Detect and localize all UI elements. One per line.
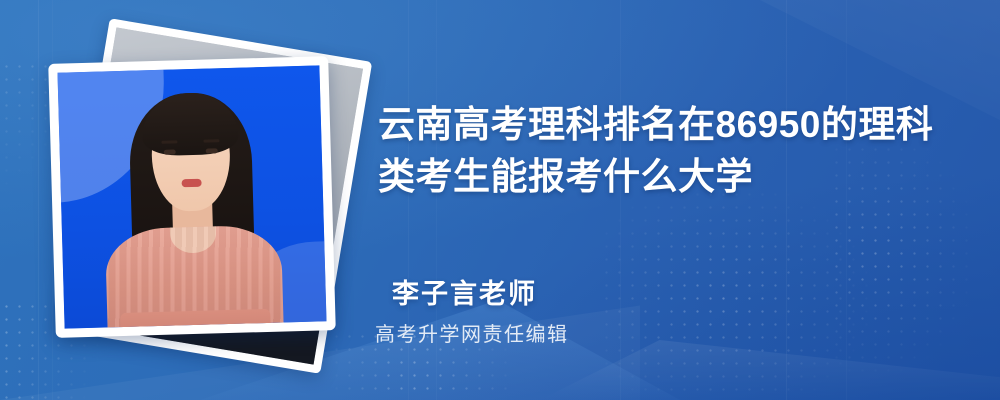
article-title-line-1: 云南高考理科排名在86950的理科 (378, 99, 958, 151)
portrait-eyebrow-right (203, 139, 219, 142)
banner-text-block: 云南高考理科排名在86950的理科 类考生能报考什么大学 李子言老师 高考升学网… (374, 0, 974, 400)
author-photo-card (48, 56, 336, 338)
portrait-hair-front (141, 92, 239, 157)
article-author-banner: 云南高考理科排名在86950的理科 类考生能报考什么大学 李子言老师 高考升学网… (0, 0, 1000, 400)
article-title: 云南高考理科排名在86950的理科 类考生能报考什么大学 (378, 99, 958, 203)
author-name: 李子言老师 (392, 272, 537, 311)
portrait-eye-right (206, 148, 218, 153)
article-title-line-2: 类考生能报考什么大学 (378, 151, 958, 203)
portrait-lips (182, 179, 202, 188)
portrait-eyebrow-left (161, 140, 177, 143)
author-role: 高考升学网责任编辑 (375, 318, 569, 347)
author-portrait (57, 65, 326, 328)
portrait-eye-left (164, 149, 176, 154)
author-photo-stack (52, 36, 362, 356)
